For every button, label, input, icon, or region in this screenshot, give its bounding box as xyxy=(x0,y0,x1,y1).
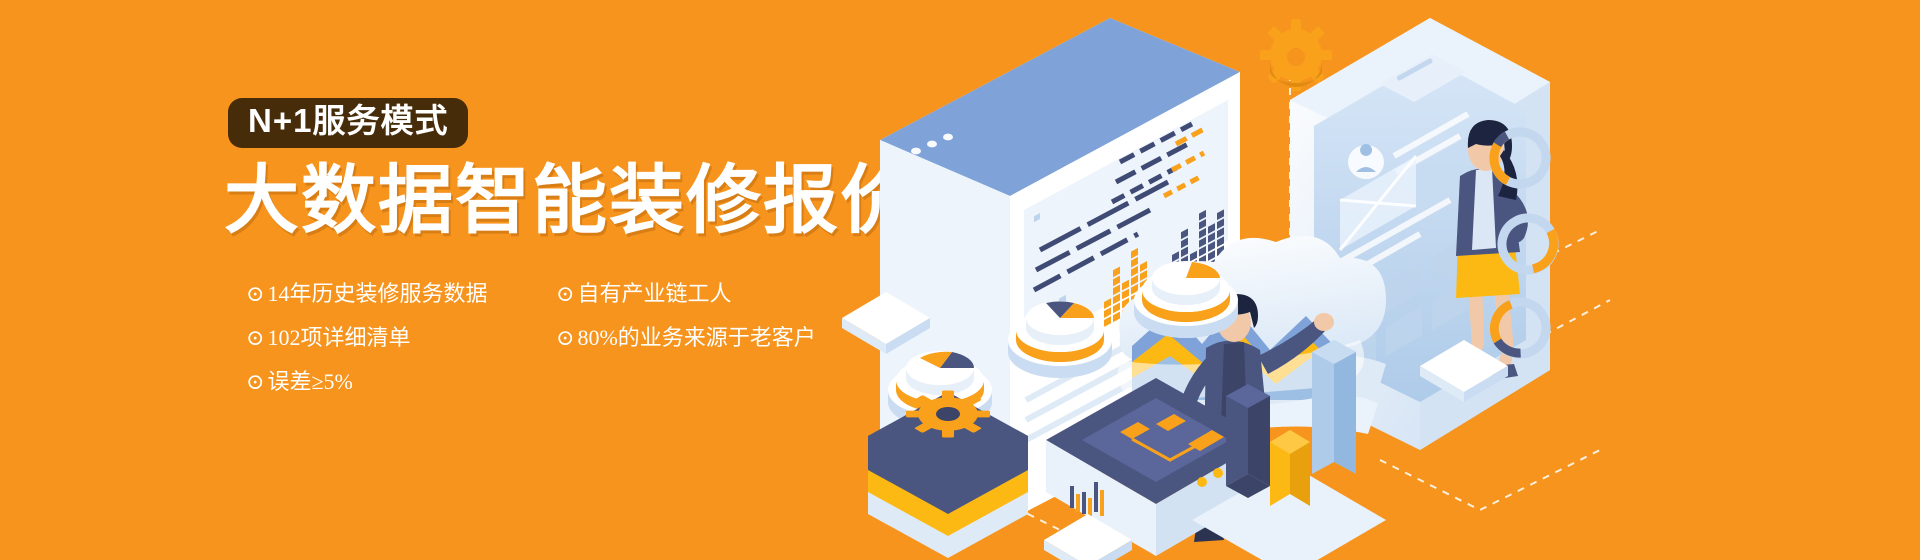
list-item: ⊙自有产业链工人 xyxy=(556,272,816,316)
list-item: ⊙14年历史装修服务数据 xyxy=(246,272,487,316)
big-data-illustration xyxy=(820,0,1920,560)
list-item: ⊙80%的业务来源于老客户 xyxy=(556,316,816,360)
gear-orange xyxy=(1260,19,1332,91)
list-item-label: 102项详细清单 xyxy=(267,325,410,350)
bullet-column-left: ⊙14年历史装修服务数据 ⊙102项详细清单 ⊙误差≥5% xyxy=(246,272,487,404)
list-item-label: 自有产业链工人 xyxy=(577,281,731,306)
bullet-dot-icon: ⊙ xyxy=(246,281,264,306)
list-item-label: 误差≥5% xyxy=(267,369,352,394)
list-item: ⊙102项详细清单 xyxy=(246,316,487,360)
service-model-badge: N+1服务模式 xyxy=(228,98,468,148)
bullet-dot-icon: ⊙ xyxy=(246,369,264,394)
page-title: 大数据智能装修报价 xyxy=(224,163,917,238)
bullet-column-right: ⊙自有产业链工人 ⊙80%的业务来源于老客户 xyxy=(556,272,816,360)
bullet-dot-icon: ⊙ xyxy=(246,325,264,350)
bullet-dot-icon: ⊙ xyxy=(556,281,574,306)
banner-copy: N+1服务模式 大数据智能装修报价 ⊙14年历史装修服务数据 ⊙102项详细清单… xyxy=(0,0,900,560)
bullet-dot-icon: ⊙ xyxy=(556,325,574,350)
list-item: ⊙误差≥5% xyxy=(246,360,487,404)
list-item-label: 14年历史装修服务数据 xyxy=(267,281,487,306)
promo-banner: N+1服务模式 大数据智能装修报价 ⊙14年历史装修服务数据 ⊙102项详细清单… xyxy=(0,0,1920,560)
list-item-label: 80%的业务来源于老客户 xyxy=(577,325,815,350)
